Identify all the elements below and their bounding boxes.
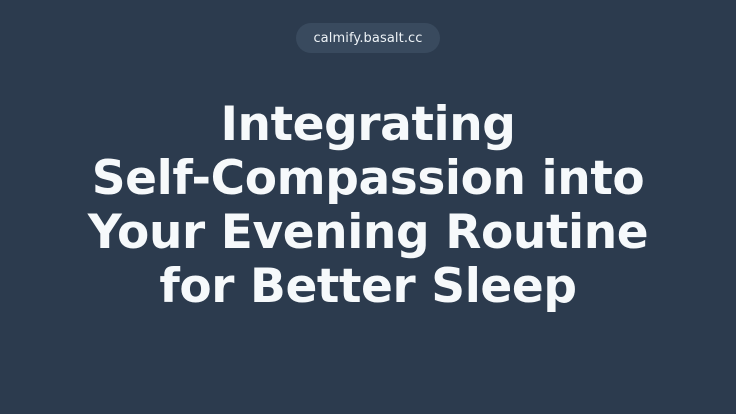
- page-title-line-3: Your Evening Routine: [36, 206, 700, 260]
- badge-row: calmify.basalt.cc: [0, 23, 736, 53]
- page-title: Integrating Self-Compassion into Your Ev…: [0, 98, 736, 314]
- site-domain-label: calmify.basalt.cc: [313, 32, 422, 45]
- page-title-line-1: Integrating: [36, 98, 700, 152]
- page-title-line-2: Self-Compassion into: [36, 152, 700, 206]
- social-share-card: calmify.basalt.cc Integrating Self-Compa…: [0, 0, 736, 414]
- site-domain-badge: calmify.basalt.cc: [296, 23, 439, 53]
- page-title-line-4: for Better Sleep: [36, 260, 700, 314]
